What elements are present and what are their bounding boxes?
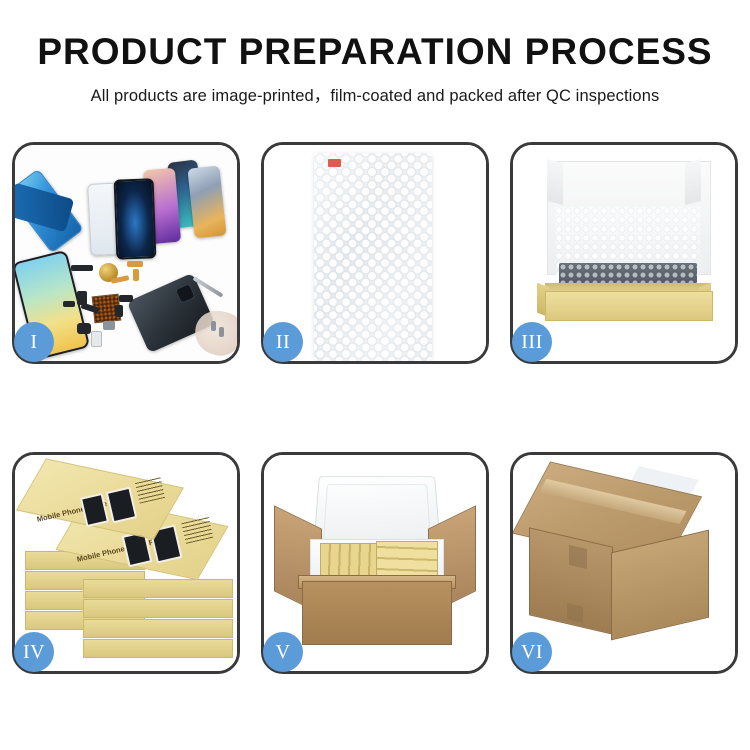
gold-phone-icon xyxy=(187,166,226,239)
small-part-icon xyxy=(115,305,123,317)
box-lid-flap-icon xyxy=(547,159,563,205)
small-part-icon xyxy=(119,295,133,302)
small-part-icon xyxy=(133,269,139,281)
page-title: PRODUCT PREPARATION PROCESS xyxy=(0,0,750,71)
screw-icon xyxy=(211,321,216,331)
step-badge-6: VI xyxy=(512,632,552,672)
bubble-wrap-icon xyxy=(314,153,432,361)
small-part-icon xyxy=(127,261,143,267)
step-badge-3: III xyxy=(512,322,552,362)
box-edge xyxy=(83,599,233,618)
step-panel-2[interactable]: II xyxy=(261,142,489,364)
screw-icon xyxy=(219,327,224,337)
box-tray-front-icon xyxy=(545,291,713,321)
steps-grid: I II xyxy=(12,142,738,674)
page-subtitle: All products are image-printed，film-coat… xyxy=(0,71,750,106)
small-part-icon xyxy=(77,323,91,334)
step-badge-1: I xyxy=(14,322,54,362)
step-panel-4[interactable]: Mobile Phone Spare Parts Mobile Phone Sp… xyxy=(12,452,240,674)
step-badge-4: IV xyxy=(14,632,54,672)
step-panel-6[interactable]: VI xyxy=(510,452,738,674)
box-edge xyxy=(83,619,233,638)
dark-phone-icon xyxy=(114,178,157,259)
product-preparation-infographic: PRODUCT PREPARATION PROCESS All products… xyxy=(0,0,750,750)
box-lid-flap-icon xyxy=(685,159,701,205)
carton-seam xyxy=(567,603,583,623)
blue-phone-icon xyxy=(15,169,84,254)
carton-body-icon xyxy=(302,581,452,645)
small-part-icon xyxy=(91,331,102,347)
step-panel-3[interactable]: III xyxy=(510,142,738,364)
small-part-icon xyxy=(103,321,115,330)
carton-seam xyxy=(569,545,587,569)
step-badge-5: V xyxy=(263,632,303,672)
box-edge xyxy=(83,639,233,658)
small-part-icon xyxy=(63,301,75,307)
step-panel-5[interactable]: V xyxy=(261,452,489,674)
header: PRODUCT PREPARATION PROCESS All products… xyxy=(0,0,750,106)
small-part-icon xyxy=(71,265,93,271)
step-badge-2: II xyxy=(263,322,303,362)
label-sticker-icon xyxy=(328,159,341,167)
box-edge xyxy=(83,579,233,598)
step-panel-1[interactable]: I xyxy=(12,142,240,364)
